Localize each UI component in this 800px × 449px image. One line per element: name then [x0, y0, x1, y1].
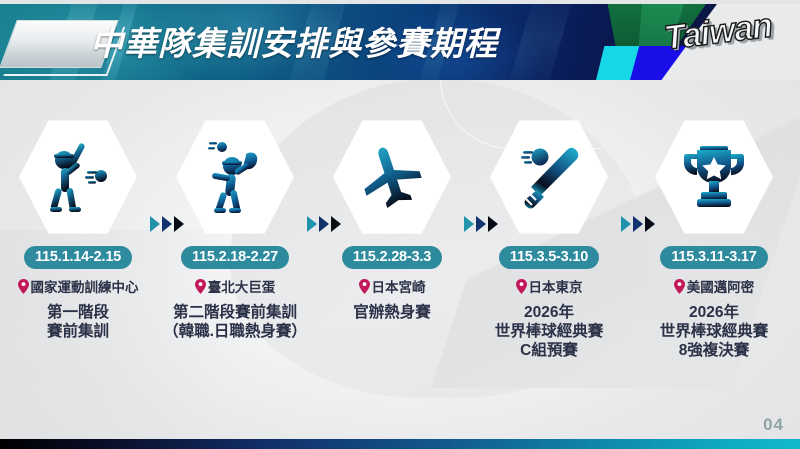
map-pin-icon — [516, 279, 527, 294]
timeline-card[interactable]: 115.3.5-3.10 日本東京 2026年 世界棒球經典賽 C組預賽 — [471, 118, 627, 361]
location-row: 美國邁阿密 — [636, 276, 792, 296]
card-description: 第一階段 賽前集訓 — [0, 304, 156, 342]
date-pill: 115.3.5-3.10 — [499, 246, 599, 269]
date-pill: 115.2.28-3.3 — [342, 246, 442, 269]
timeline-card[interactable]: 115.3.11-3.17 美國邁阿密 2026年 世界棒球經典賽 8強複決賽 — [636, 118, 792, 361]
location-row: 國家運動訓練中心 — [0, 276, 156, 296]
card-description: 第二階段賽前集訓 （韓職.日職熱身賽） — [149, 304, 321, 342]
timeline-card[interactable]: 115.2.18-2.27 臺北大巨蛋 第二階段賽前集訓 （韓職.日職熱身賽） — [157, 118, 313, 342]
hexagon-badge — [19, 118, 137, 236]
location-label: 國家運動訓練中心 — [31, 276, 139, 296]
timeline-card[interactable]: 115.1.14-2.15 國家運動訓練中心 第一階段 賽前集訓 — [0, 118, 156, 342]
baseball-bat-and-ball-icon — [510, 138, 588, 216]
trophy-icon — [675, 138, 753, 216]
date-pill: 115.3.11-3.17 — [660, 246, 767, 269]
map-pin-icon — [359, 279, 370, 294]
map-pin-icon — [18, 279, 29, 294]
hexagon-badge — [490, 118, 608, 236]
card-description: 2026年 世界棒球經典賽 C組預賽 — [471, 304, 627, 361]
timeline: 115.1.14-2.15 國家運動訓練中心 第一階段 賽前集訓 — [0, 118, 800, 418]
date-pill: 115.2.18-2.27 — [181, 246, 289, 269]
card-description: 2026年 世界棒球經典賽 8強複決賽 — [636, 304, 792, 361]
map-pin-icon — [674, 279, 685, 294]
chevron-right-icon — [621, 216, 631, 232]
map-pin-icon — [195, 279, 206, 294]
hexagon-badge — [655, 118, 773, 236]
hexagon-badge — [176, 118, 294, 236]
baseball-fielder-icon — [196, 138, 274, 216]
location-row: 日本東京 — [471, 276, 627, 296]
location-label: 美國邁阿密 — [687, 276, 755, 296]
location-row: 日本宮崎 — [314, 276, 470, 296]
date-pill: 115.1.14-2.15 — [24, 246, 132, 269]
location-label: 日本東京 — [529, 276, 583, 296]
location-label: 臺北大巨蛋 — [208, 276, 276, 296]
timeline-card[interactable]: 115.2.28-3.3 日本宮崎 官辦熱身賽 — [314, 118, 470, 323]
baseball-batter-icon — [39, 138, 117, 216]
page-title: 中華隊集訓安排與參賽期程 — [90, 17, 498, 65]
location-label: 日本宮崎 — [372, 276, 426, 296]
slide-root: 中華隊集訓安排與參賽期程 Taiwan — [0, 0, 800, 449]
hexagon-badge — [333, 118, 451, 236]
card-description: 官辦熱身賽 — [314, 304, 470, 323]
location-row: 臺北大巨蛋 — [157, 276, 313, 296]
page-number: 04 — [763, 415, 784, 435]
airplane-icon — [353, 138, 431, 216]
footer-gradient-bar — [0, 439, 800, 449]
